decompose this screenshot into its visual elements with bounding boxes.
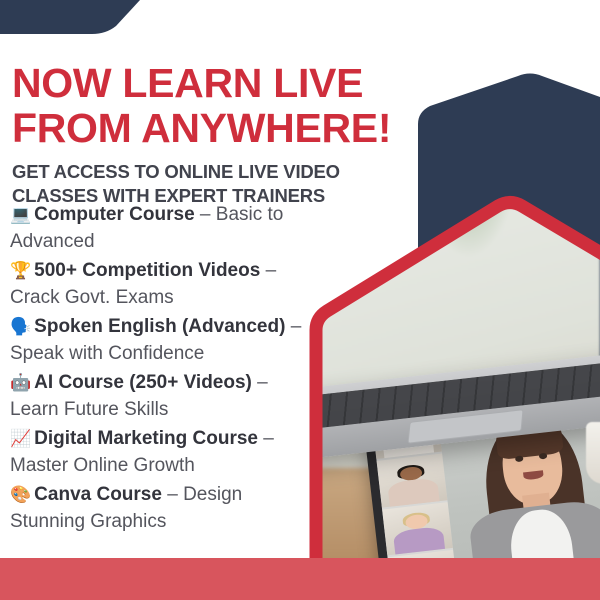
page-subtitle: GET ACCESS TO ONLINE LIVE VIDEO CLASSES … — [12, 160, 402, 207]
list-item: 🗣️Spoken English (Advanced) – Speak with… — [10, 314, 315, 368]
course-name: Digital Marketing Course — [34, 428, 258, 449]
bottom-red-band — [0, 558, 600, 600]
speaking-head-emoji: 🗣️ — [10, 317, 31, 336]
headline-line-2: FROM ANYWHERE! — [12, 106, 412, 150]
page-title: NOW LEARN LIVE FROM ANYWHERE! — [12, 61, 412, 150]
artist-palette-emoji: 🎨 — [10, 485, 31, 504]
headline-line-1: NOW LEARN LIVE — [12, 60, 363, 106]
robot-emoji: 🤖 — [10, 373, 31, 392]
desk-mug — [586, 422, 600, 484]
list-item: 🎨Canva Course – Design Stunning Graphics — [10, 482, 315, 536]
promo-poster: NOW LEARN LIVE FROM ANYWHERE! GET ACCESS… — [0, 0, 600, 600]
course-name: Canva Course — [34, 484, 162, 505]
course-name: Computer Course — [34, 204, 194, 225]
trophy-emoji: 🏆 — [10, 261, 31, 280]
subhead-line-1: GET ACCESS TO ONLINE LIVE VIDEO — [12, 161, 340, 182]
chart-increasing-emoji: 📈 — [10, 429, 31, 448]
course-name: AI Course (250+ Videos) — [34, 372, 252, 393]
course-list: 💻Computer Course – Basic to Advanced 🏆50… — [10, 202, 315, 538]
list-item: 💻Computer Course – Basic to Advanced — [10, 202, 315, 256]
participant-tile — [382, 502, 452, 555]
list-item: 📈Digital Marketing Course – Master Onlin… — [10, 426, 315, 480]
laptop-emoji: 💻 — [10, 205, 31, 224]
list-item: 🤖AI Course (250+ Videos) – Learn Future … — [10, 370, 315, 424]
participant-tile — [377, 454, 447, 507]
list-item: 🏆500+ Competition Videos – Crack Govt. E… — [10, 258, 315, 312]
course-name: 500+ Competition Videos — [34, 260, 260, 281]
course-name: Spoken English (Advanced) — [34, 316, 285, 337]
